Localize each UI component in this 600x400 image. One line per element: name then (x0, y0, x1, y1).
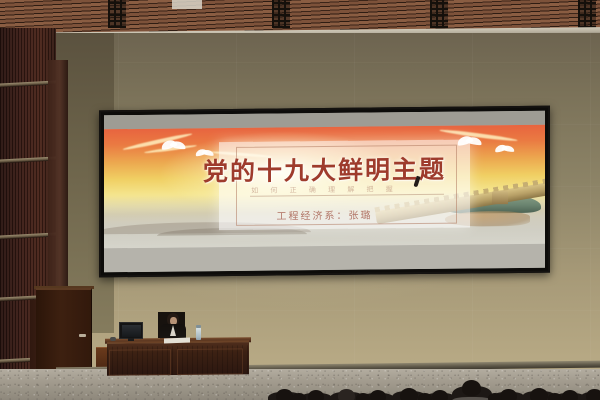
ceiling-grille-icon (108, 0, 126, 28)
monitor-screen (122, 325, 141, 337)
audience-head (432, 390, 448, 400)
audience-head (562, 390, 578, 400)
projection-screen[interactable]: 党的十九大鲜明主题 如 何 正 确 理 解 把 握 工程经济系：张璐 (99, 106, 550, 278)
ceiling-grille-icon (430, 0, 448, 28)
side-door[interactable] (36, 288, 92, 378)
audience-head (500, 389, 517, 400)
water-bottle (196, 327, 201, 340)
screen-letterbox-bottom (104, 244, 545, 273)
water-bottle-cap (196, 325, 201, 328)
audience-head (400, 388, 418, 400)
audience-head (356, 393, 370, 400)
audience-head (292, 393, 306, 400)
computer-mouse[interactable] (110, 337, 116, 341)
audience-head (462, 380, 481, 396)
ceiling-grille-icon (578, 0, 596, 28)
screen-surface: 党的十九大鲜明主题 如 何 正 确 理 解 把 握 工程经济系：张璐 (104, 111, 545, 273)
presentation-slide: 党的十九大鲜明主题 如 何 正 确 理 解 把 握 工程经济系：张璐 (104, 125, 545, 249)
audience-rows (0, 366, 600, 400)
audience-head (488, 393, 502, 400)
audience-head (308, 390, 324, 400)
podium-papers (164, 338, 190, 344)
monitor-stand (128, 338, 134, 341)
audience-head (276, 389, 293, 400)
audience-head (418, 393, 432, 400)
podium-monitor[interactable] (119, 322, 143, 339)
door-handle-icon[interactable] (79, 334, 86, 337)
dove-icon (161, 140, 187, 149)
audience-head (370, 390, 386, 400)
lecture-hall-scene: 党的十九大鲜明主题 如 何 正 确 理 解 把 握 工程经济系：张璐 (0, 0, 600, 400)
audience-head (338, 389, 355, 400)
ceiling-light (172, 0, 202, 9)
audience-head (548, 393, 562, 400)
ceiling-grille-icon (272, 0, 290, 28)
audience-head (586, 389, 600, 400)
audience-head (530, 388, 548, 400)
